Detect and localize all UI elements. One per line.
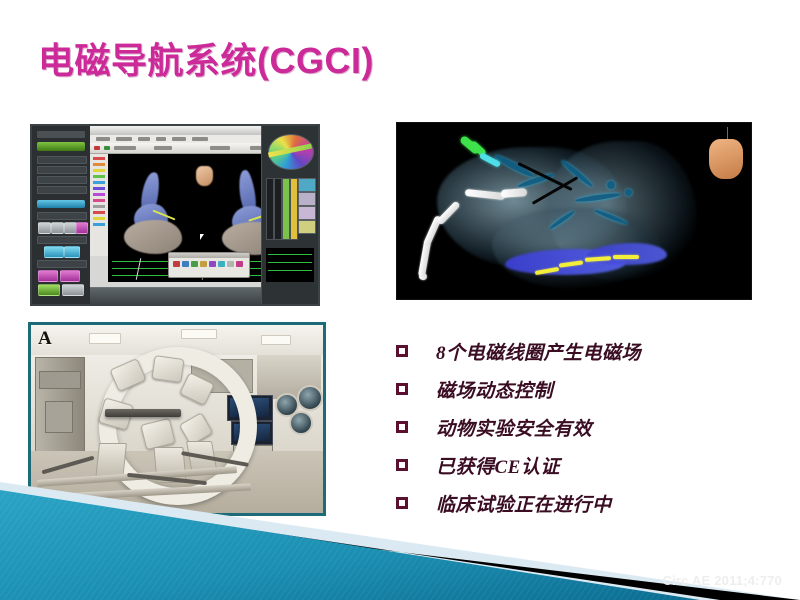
presentation-slide: 电磁导航系统(CGCI) xyxy=(0,0,800,600)
panel-tile xyxy=(298,220,316,234)
cardiac-3d-map xyxy=(396,122,752,300)
catheter-white xyxy=(418,241,431,278)
menu-item xyxy=(156,137,166,141)
ceiling-light xyxy=(89,333,121,344)
lab-scene: A xyxy=(31,325,323,513)
panel-row xyxy=(37,212,87,220)
list-item-label: 临床试验正在进行中 xyxy=(436,490,612,517)
panel-tile xyxy=(298,178,316,192)
toolbar-icon xyxy=(154,146,172,150)
rail-swatch xyxy=(93,223,105,226)
right-ecg-strip xyxy=(266,248,314,282)
surgical-lamp xyxy=(297,385,323,411)
bullet-square-icon xyxy=(396,345,408,357)
bullet-list: 8个电磁线圈产生电磁场 磁场动态控制 动物实验安全有效 已获得CE认证 临床试验… xyxy=(396,332,786,522)
list-item-label: 磁场动态控制 xyxy=(436,376,553,403)
vessel-highlight xyxy=(607,181,615,189)
rail-swatch xyxy=(93,157,105,160)
toolbar-icon xyxy=(210,146,230,150)
torso-orientation-icon xyxy=(709,139,743,179)
page-title: 电磁导航系统(CGCI) xyxy=(38,32,374,84)
panel-row xyxy=(37,186,87,194)
menu-item xyxy=(172,137,186,141)
control-button xyxy=(44,246,64,258)
vessel-highlight xyxy=(625,189,632,196)
rail-swatch xyxy=(93,199,105,202)
status-bar-blue xyxy=(37,200,85,208)
status-bar-green xyxy=(37,142,85,151)
control-button xyxy=(38,270,58,282)
surgical-lamp xyxy=(289,411,313,435)
panel-row xyxy=(37,176,87,184)
ceiling-light xyxy=(261,335,291,345)
dialog-icon xyxy=(173,261,180,267)
rail-swatch xyxy=(93,211,105,214)
bullet-square-icon xyxy=(396,459,408,471)
dialog-icon xyxy=(236,261,243,267)
dialog-icon xyxy=(227,261,234,267)
door-window xyxy=(39,371,81,389)
panel-heading-bar xyxy=(37,131,85,138)
signal-slider xyxy=(266,178,274,240)
door-panel xyxy=(45,401,73,433)
menu-item xyxy=(96,137,110,141)
panel-row xyxy=(37,236,87,244)
signal-slider xyxy=(282,178,290,240)
list-item: 临床试验正在进行中 xyxy=(396,484,786,522)
source-citation: Circ AE 2011;4:770 xyxy=(663,573,782,588)
list-item: 动物实验安全有效 xyxy=(396,408,786,446)
tool-dialog xyxy=(168,252,250,278)
toolbar-icon xyxy=(94,146,100,150)
signal-slider xyxy=(290,178,298,240)
panel-tile xyxy=(298,206,316,220)
ecg-trace xyxy=(268,270,312,271)
dialog-icon xyxy=(182,261,189,267)
dialog-icon xyxy=(218,261,225,267)
panel-tile xyxy=(298,192,316,206)
software-toolbar xyxy=(90,143,262,154)
dialog-icon xyxy=(209,261,216,267)
dialog-titlebar xyxy=(169,253,249,258)
bullet-square-icon xyxy=(396,383,408,395)
control-button xyxy=(76,222,88,234)
3d-viewport xyxy=(108,154,262,256)
list-item: 磁场动态控制 xyxy=(396,370,786,408)
rail-swatch xyxy=(93,163,105,166)
rail-swatch xyxy=(93,187,105,190)
software-statusbar xyxy=(90,287,262,304)
map-viewport xyxy=(397,123,751,299)
dialog-icon xyxy=(200,261,207,267)
control-button xyxy=(38,284,60,296)
toolbar-icon xyxy=(104,146,110,150)
navigation-software-screenshot xyxy=(30,124,320,306)
color-rail-strip xyxy=(90,154,109,256)
panel-row xyxy=(37,166,87,174)
control-button xyxy=(60,270,80,282)
list-item: 已获得CE认证 xyxy=(396,446,786,484)
list-item-label: 动物实验安全有效 xyxy=(436,414,592,441)
software-right-panel xyxy=(261,126,318,304)
bullet-square-icon xyxy=(396,497,408,509)
toolbar-icon xyxy=(114,146,136,150)
control-button xyxy=(62,284,84,296)
chamber-blue xyxy=(587,243,667,265)
anatomy-heart xyxy=(124,220,182,254)
rail-swatch xyxy=(93,181,105,184)
catheter-yellow xyxy=(613,255,639,259)
ecg-trace xyxy=(268,254,312,255)
electromagnet-coil xyxy=(151,355,184,383)
list-item-label: 已获得CE认证 xyxy=(436,452,560,479)
dialog-icon xyxy=(191,261,198,267)
anatomy-torso-icon xyxy=(196,166,213,186)
cgci-gantry-photo: A xyxy=(28,322,326,516)
ceiling-light xyxy=(181,329,217,339)
panel-label: A xyxy=(38,328,52,350)
software-left-panel xyxy=(32,126,91,304)
rail-swatch xyxy=(93,217,105,220)
list-item: 8个电磁线圈产生电磁场 xyxy=(396,332,786,370)
signal-slider xyxy=(274,178,282,240)
cursor-pointer xyxy=(200,234,204,240)
menu-item xyxy=(138,137,150,141)
control-button xyxy=(38,222,51,234)
software-main-window xyxy=(90,126,262,304)
bullet-square-icon xyxy=(396,421,408,433)
menu-item xyxy=(192,137,208,141)
panel-row xyxy=(37,260,87,268)
rail-swatch xyxy=(93,175,105,178)
ecg-trace xyxy=(268,262,312,263)
control-button xyxy=(51,222,64,234)
menu-item xyxy=(116,137,132,141)
rail-swatch xyxy=(93,205,105,208)
software-window xyxy=(32,126,318,304)
rail-swatch xyxy=(93,169,105,172)
control-button xyxy=(64,246,80,258)
panel-row xyxy=(37,156,87,164)
patient-table xyxy=(105,409,181,417)
list-item-label: 8个电磁线圈产生电磁场 xyxy=(436,338,641,365)
rail-swatch xyxy=(93,193,105,196)
